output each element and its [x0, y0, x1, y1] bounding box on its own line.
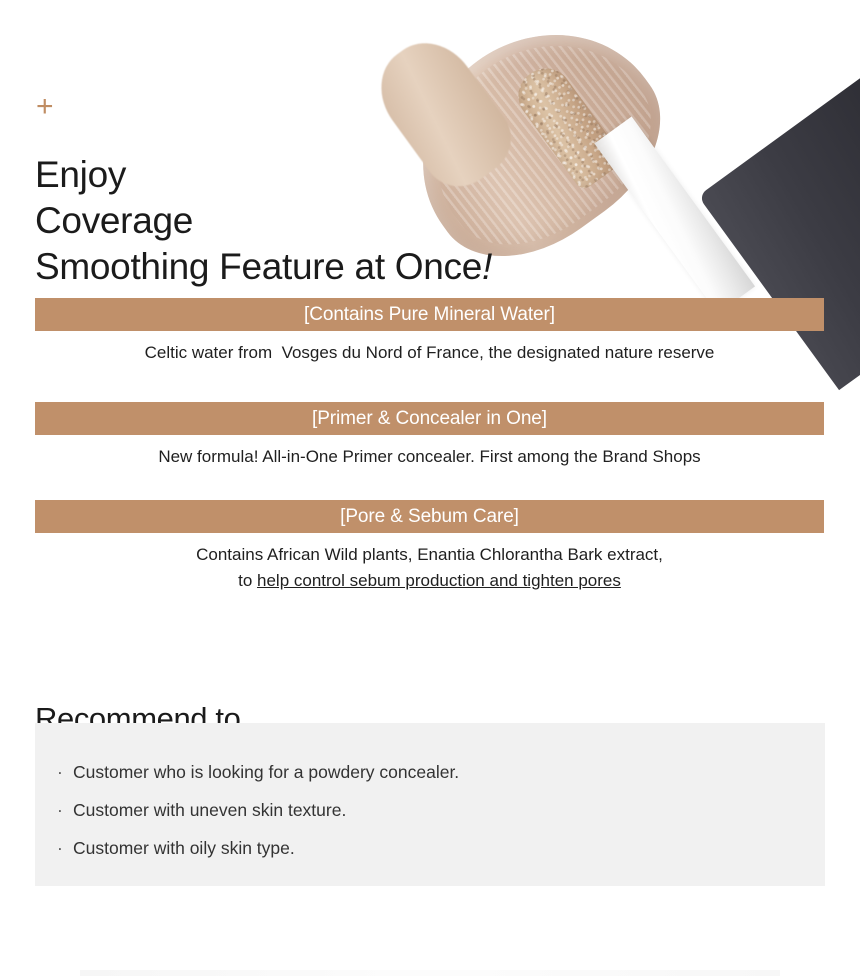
headline-line-2: Coverage [35, 198, 675, 244]
headline-line-1: Enjoy [35, 152, 675, 198]
feature-body: Contains African Wild plants, Enantia Ch… [35, 542, 824, 594]
feature-heading: [Primer & Concealer in One] [35, 402, 824, 435]
list-item-label: Customer with uneven skin texture. [73, 800, 346, 820]
bullet-icon: · [57, 791, 73, 829]
feature-body-text: Celtic water from Vosges du Nord of Fran… [145, 343, 715, 362]
product-detail-page: + Enjoy Coverage Smoothing Feature at On… [0, 0, 860, 977]
feature-block-mineral-water: [Contains Pure Mineral Water] Celtic wat… [35, 298, 824, 366]
recommend-list: ·Customer who is looking for a powdery c… [57, 753, 459, 867]
bullet-icon: · [57, 753, 73, 791]
bullet-icon: · [57, 829, 73, 867]
feature-block-primer-concealer: [Primer & Concealer in One] New formula!… [35, 402, 824, 470]
list-item-label: Customer who is looking for a powdery co… [73, 762, 459, 782]
below-fold-ghost-content [80, 970, 780, 976]
list-item: ·Customer who is looking for a powdery c… [57, 753, 459, 791]
recommend-box: ·Customer who is looking for a powdery c… [35, 723, 825, 886]
feature-block-pore-sebum-care: [Pore & Sebum Care] Contains African Wil… [35, 500, 824, 594]
feature-body: Celtic water from Vosges du Nord of Fran… [35, 340, 824, 366]
page-title: Enjoy Coverage Smoothing Feature at Once… [35, 152, 675, 290]
list-item-label: Customer with oily skin type. [73, 838, 295, 858]
plus-icon: + [36, 92, 54, 122]
feature-heading: [Pore & Sebum Care] [35, 500, 824, 533]
headline-exclamation: ! [482, 246, 492, 287]
headline-line-3: Smoothing Feature at Once! [35, 244, 675, 290]
below-fold-sliver [0, 966, 860, 977]
list-item: ·Customer with uneven skin texture. [57, 791, 459, 829]
feature-body-underlined-text: help control sebum production and tighte… [257, 571, 621, 590]
list-item: ·Customer with oily skin type. [57, 829, 459, 867]
headline-line-3-text: Smoothing Feature at Once [35, 246, 482, 287]
feature-body-text: New formula! All-in-One Primer concealer… [158, 447, 700, 466]
feature-heading: [Contains Pure Mineral Water] [35, 298, 824, 331]
feature-body: New formula! All-in-One Primer concealer… [35, 444, 824, 470]
